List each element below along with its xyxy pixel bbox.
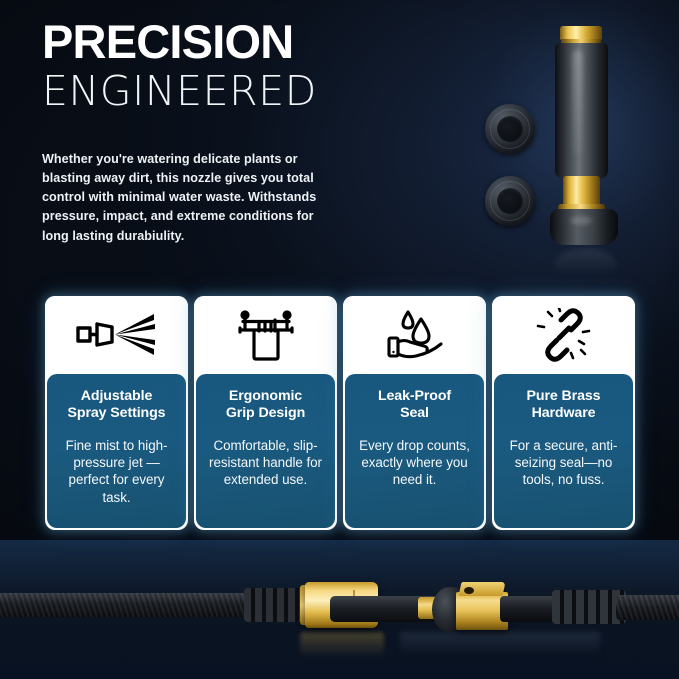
product-infographic-poster: PRECISION ENGINEERED Whether you're wate… — [0, 0, 679, 679]
card-text-panel: Pure Brass Hardware For a secure, anti-s… — [494, 374, 633, 528]
headline-primary: PRECISION — [42, 18, 462, 66]
bottom-hose-section — [0, 540, 679, 679]
feature-card-leak-proof-seal[interactable]: Leak-Proof Seal Every drop counts, exact… — [343, 296, 486, 530]
card-icon-container — [343, 296, 486, 374]
card-description: For a secure, anti-seizing seal—no tools… — [501, 437, 626, 489]
nozzle-base-highlight — [570, 216, 592, 225]
hand-grip-handle-icon — [237, 309, 295, 361]
hose-right-strain-relief — [552, 590, 626, 624]
hand-water-drops-icon — [384, 308, 446, 362]
washer-inner-hole — [497, 188, 523, 214]
spray-nozzle-icon — [74, 311, 160, 359]
nozzle-reflection — [554, 248, 616, 282]
page-title: PRECISION ENGINEERED — [42, 18, 462, 115]
hero-body-copy: Whether you're watering delicate plants … — [42, 150, 342, 246]
feature-card-pure-brass[interactable]: Pure Brass Hardware For a secure, anti-s… — [492, 296, 635, 530]
nozzle-barrel-highlight — [572, 50, 583, 154]
rubber-washer-1 — [485, 104, 535, 154]
hose-right-reflection — [400, 632, 600, 660]
card-description: Fine mist to high-pressure jet — perfect… — [54, 437, 179, 507]
card-text-panel: Adjustable Spray Settings Fine mist to h… — [47, 374, 186, 528]
card-title: Pure Brass Hardware — [501, 388, 626, 423]
card-text-panel: Ergonomic Grip Design Comfortable, slip-… — [196, 374, 335, 528]
card-description: Comfortable, slip-resistant handle for e… — [203, 437, 328, 489]
card-title-line1: Leak-Proof — [378, 388, 451, 404]
feature-card-adjustable-spray[interactable]: Adjustable Spray Settings Fine mist to h… — [45, 296, 188, 530]
card-title-line2: Grip Design — [226, 405, 305, 421]
card-title: Ergonomic Grip Design — [203, 388, 328, 423]
card-title-line1: Ergonomic — [229, 388, 302, 404]
card-title-line1: Pure Brass — [527, 388, 601, 404]
card-icon-container — [194, 296, 337, 374]
card-icon-container — [492, 296, 635, 374]
nozzle-base — [550, 209, 618, 245]
washer-inner-hole — [497, 116, 523, 142]
card-description: Every drop counts, exactly where you nee… — [352, 437, 477, 489]
headline-secondary: ENGINEERED — [42, 69, 462, 115]
rubber-washer-2 — [485, 176, 535, 226]
chain-link-sparkle-icon — [535, 308, 593, 362]
card-title-line2: Spray Settings — [68, 405, 166, 421]
feature-card-ergonomic-grip[interactable]: Ergonomic Grip Design Comfortable, slip-… — [194, 296, 337, 530]
card-text-panel: Leak-Proof Seal Every drop counts, exact… — [345, 374, 484, 528]
card-title: Adjustable Spray Settings — [54, 388, 179, 423]
hose-left-strain-relief — [244, 588, 308, 622]
card-title-line2: Seal — [400, 405, 429, 421]
hose-right-lever-pivot — [464, 587, 474, 594]
card-title: Leak-Proof Seal — [352, 388, 477, 423]
nozzle-brass-tip — [560, 26, 602, 40]
nozzle-body — [550, 26, 622, 248]
card-icon-container — [45, 296, 188, 374]
hose-left-reflection — [300, 632, 384, 662]
card-title-line1: Adjustable — [81, 388, 153, 404]
hose-right-braided-tube — [616, 595, 679, 620]
card-title-line2: Hardware — [532, 405, 596, 421]
product-photo-nozzle — [455, 6, 679, 281]
feature-card-list: Adjustable Spray Settings Fine mist to h… — [45, 296, 635, 530]
